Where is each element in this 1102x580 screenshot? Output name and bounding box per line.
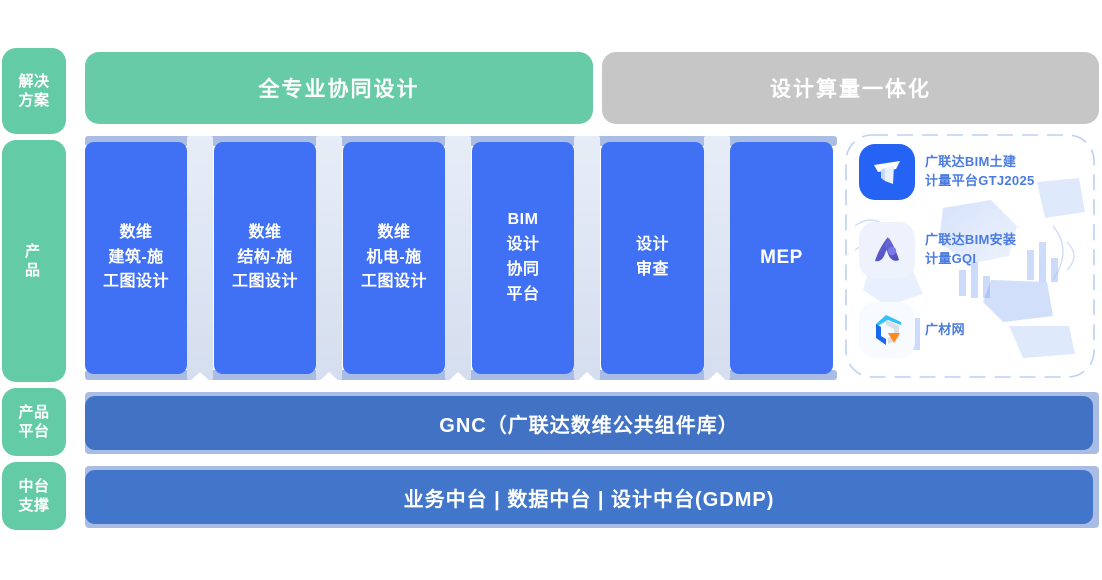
chevron-down-icon-2: [316, 124, 342, 136]
logo-row-gqi[interactable]: 广联达BIM安装 计量GQI: [859, 222, 1053, 278]
product-card-shuwei-structure[interactable]: 数维 结构-施 工图设计: [214, 142, 316, 374]
platform-bar-gnc[interactable]: GNC（广联达数维公共组件库）: [85, 396, 1093, 450]
chevron-down-icon-4: [574, 124, 600, 136]
sidebar-item-product-platform[interactable]: 产品 平台: [2, 388, 66, 456]
chevron-up-icon-3: [445, 372, 471, 384]
chevron-up-icon-1: [187, 372, 213, 384]
sidebar-item-product[interactable]: 产 品: [2, 140, 66, 382]
solution-bar-design-quantity-integration[interactable]: 设计算量一体化: [602, 52, 1099, 124]
sidebar-item-midend-support[interactable]: 中台 支撑: [2, 462, 66, 530]
gcw-glyph: [868, 311, 906, 349]
shelf-gap-5: [704, 136, 730, 380]
product-card-design-review[interactable]: 设计 审查: [601, 142, 704, 374]
solution-bar-collaborative-design[interactable]: 全专业协同设计: [85, 52, 593, 124]
chevron-up-icon-2: [316, 372, 342, 384]
platform-bar-gdmp[interactable]: 业务中台 | 数据中台 | 设计中台(GDMP): [85, 470, 1093, 524]
glodon-gtj-icon: [859, 144, 915, 200]
gtj-glyph: [869, 154, 905, 190]
product-card-mep-label: MEP: [760, 243, 803, 272]
logo-row-gcw[interactable]: 广材网: [859, 302, 1053, 358]
logo-row-gtj2025[interactable]: 广联达BIM土建 计量平台GTJ2025: [859, 144, 1053, 200]
shelf-gap-3: [445, 136, 471, 380]
chevron-up-icon-5: [704, 372, 730, 384]
glodon-gcw-icon: [859, 302, 915, 358]
chevron-down-icon-3: [445, 124, 471, 136]
product-card-bim-design-platform[interactable]: BIM 设计 协同 平台: [472, 142, 574, 374]
shelf-gap-1: [187, 136, 213, 380]
quantity-products-panel: 广联达BIM土建 计量平台GTJ2025: [841, 130, 1099, 382]
platform-bar-gdmp-label: 业务中台 | 数据中台 | 设计中台(GDMP): [404, 483, 775, 512]
chevron-down-icon-5: [704, 124, 730, 136]
chevron-up-icon-4: [574, 372, 600, 384]
logo-label-gtj2025: 广联达BIM土建 计量平台GTJ2025: [925, 153, 1053, 191]
architecture-diagram: 解决 方案 产 品 产品 平台 中台 支撑 全专业协同设计 设计算量一体化: [0, 0, 1102, 580]
logo-label-gqi: 广联达BIM安装 计量GQI: [925, 231, 1053, 269]
platform-bar-gnc-label: GNC（广联达数维公共组件库）: [439, 409, 738, 438]
gqi-glyph: [869, 232, 905, 268]
solution-bar-collaborative-design-label: 全专业协同设计: [259, 73, 420, 103]
product-card-design-review-label: 设计 审查: [636, 233, 669, 283]
logo-label-gcw: 广材网: [925, 321, 1053, 340]
product-card-shuwei-structure-label: 数维 结构-施 工图设计: [232, 221, 298, 295]
chevron-down-icon-1: [187, 124, 213, 136]
shelf-gap-2: [316, 136, 342, 380]
solution-bar-design-quantity-integration-label: 设计算量一体化: [770, 73, 931, 103]
product-card-bim-design-platform-label: BIM 设计 协同 平台: [506, 208, 539, 307]
shelf-gap-4: [574, 136, 600, 380]
product-card-shuwei-mep[interactable]: 数维 机电-施 工图设计: [343, 142, 445, 374]
product-card-shuwei-mep-label: 数维 机电-施 工图设计: [361, 221, 427, 295]
sidebar-item-product-platform-label: 产品 平台: [18, 403, 49, 442]
glodon-gqi-icon: [859, 222, 915, 278]
sidebar-item-product-label: 产 品: [25, 242, 43, 281]
product-card-shuwei-architecture[interactable]: 数维 建筑-施 工图设计: [85, 142, 187, 374]
sidebar-item-solution[interactable]: 解决 方案: [2, 48, 66, 134]
product-card-shuwei-architecture-label: 数维 建筑-施 工图设计: [103, 221, 169, 295]
product-card-mep[interactable]: MEP: [730, 142, 833, 374]
sidebar-item-solution-label: 解决 方案: [18, 72, 49, 111]
sidebar-item-midend-support-label: 中台 支撑: [18, 477, 49, 516]
